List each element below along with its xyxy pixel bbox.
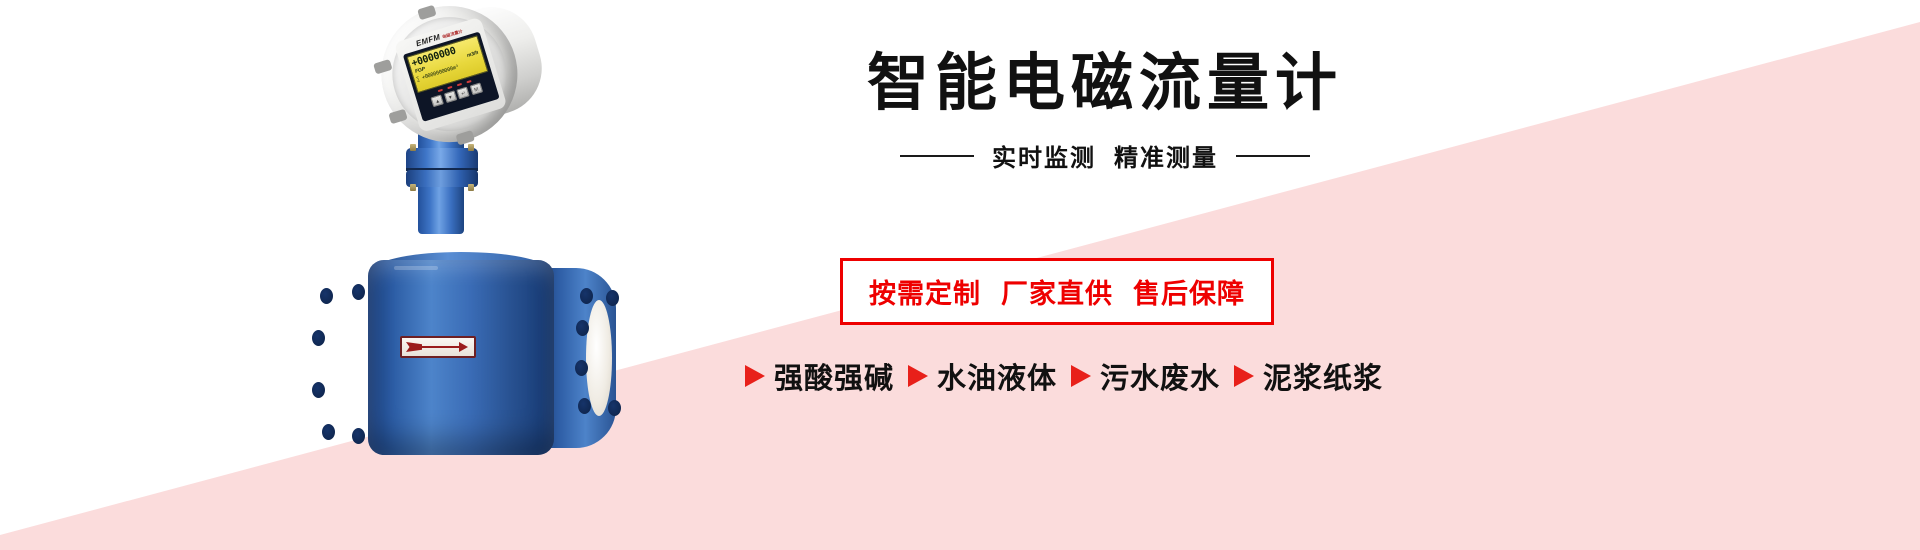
- status-led: [466, 80, 471, 83]
- flange-bolt-hole: [608, 400, 621, 416]
- triangle-right-icon: [745, 365, 765, 387]
- feature-label: 泥浆纸浆: [1263, 355, 1383, 397]
- flange-bolt-hole: [312, 382, 325, 398]
- rule-left: [900, 155, 974, 157]
- collar-bolt: [468, 184, 474, 191]
- flow-arrow-shaft-icon: [421, 346, 459, 349]
- keypad-button-down[interactable]: ▼: [444, 90, 457, 103]
- flange-bolt-hole: [322, 424, 335, 440]
- subtitle: 实时监测精准测量: [992, 138, 1218, 173]
- triangle-right-icon: [908, 365, 928, 387]
- feature-item: 强酸强碱: [745, 355, 894, 397]
- flange-bolt-hole: [575, 360, 588, 376]
- feature-item: 污水废水: [1071, 355, 1220, 397]
- status-led: [456, 83, 461, 86]
- triangle-right-icon: [1071, 365, 1091, 387]
- product-banner: EMFM电磁流量计 +0000000 FGP m3/h ∑ +000000000…: [0, 0, 1920, 550]
- feature-label: 强酸强碱: [774, 355, 894, 397]
- promo-text: 按需定制厂家直供售后保障: [869, 272, 1245, 311]
- feature-list: 强酸强碱 水油液体 污水废水 泥浆纸浆: [745, 355, 1383, 397]
- keypad-button-up[interactable]: ▲: [431, 94, 444, 107]
- flange-liner: [586, 300, 612, 416]
- promo-item-1: 按需定制: [869, 279, 981, 309]
- triangle-right-icon: [1234, 365, 1254, 387]
- subtitle-left: 实时监测: [992, 145, 1096, 172]
- promo-item-2: 厂家直供: [1001, 279, 1113, 309]
- status-led: [447, 86, 452, 89]
- subtitle-row: 实时监测精准测量: [760, 138, 1450, 173]
- flow-arrow-head-icon: [459, 342, 468, 352]
- rule-right: [1236, 155, 1310, 157]
- flange-bolt-hole: [580, 288, 593, 304]
- promo-badge: 按需定制厂家直供售后保障: [840, 258, 1274, 325]
- subtitle-right: 精准测量: [1114, 145, 1218, 172]
- body-seam: [394, 266, 438, 270]
- collar-bolt: [410, 184, 416, 191]
- flange-bolt-hole: [352, 428, 365, 444]
- feature-item: 水油液体: [908, 355, 1057, 397]
- feature-label: 水油液体: [937, 355, 1057, 397]
- flow-direction-arrow-plate: [400, 336, 476, 358]
- promo-item-3: 售后保障: [1133, 279, 1245, 309]
- flange-bolt-hole: [312, 330, 325, 346]
- feature-item: 泥浆纸浆: [1234, 355, 1383, 397]
- keypad-button-enter[interactable]: ↵: [457, 86, 470, 99]
- banner-content: 智能电磁流量计 实时监测精准测量 按需定制厂家直供售后保障 强酸强碱 水油液体: [760, 0, 1760, 550]
- flow-arrow-tail-icon: [406, 342, 422, 352]
- page-title: 智能电磁流量计: [760, 48, 1450, 120]
- feature-label: 污水废水: [1100, 355, 1220, 397]
- keypad-button-menu[interactable]: M: [469, 83, 482, 96]
- status-led: [437, 89, 442, 92]
- flowmeter-illustration: EMFM电磁流量计 +0000000 FGP m3/h ∑ +000000000…: [290, 0, 710, 470]
- flange-bolt-hole: [320, 288, 333, 304]
- flange-bolt-hole: [578, 398, 591, 414]
- collar-bolt: [468, 144, 474, 151]
- flange-bolt-hole: [576, 320, 589, 336]
- flange-bolt-hole: [606, 290, 619, 306]
- transmitter-head: EMFM电磁流量计 +0000000 FGP m3/h ∑ +000000000…: [365, 0, 536, 163]
- flange-bolt-hole: [352, 284, 365, 300]
